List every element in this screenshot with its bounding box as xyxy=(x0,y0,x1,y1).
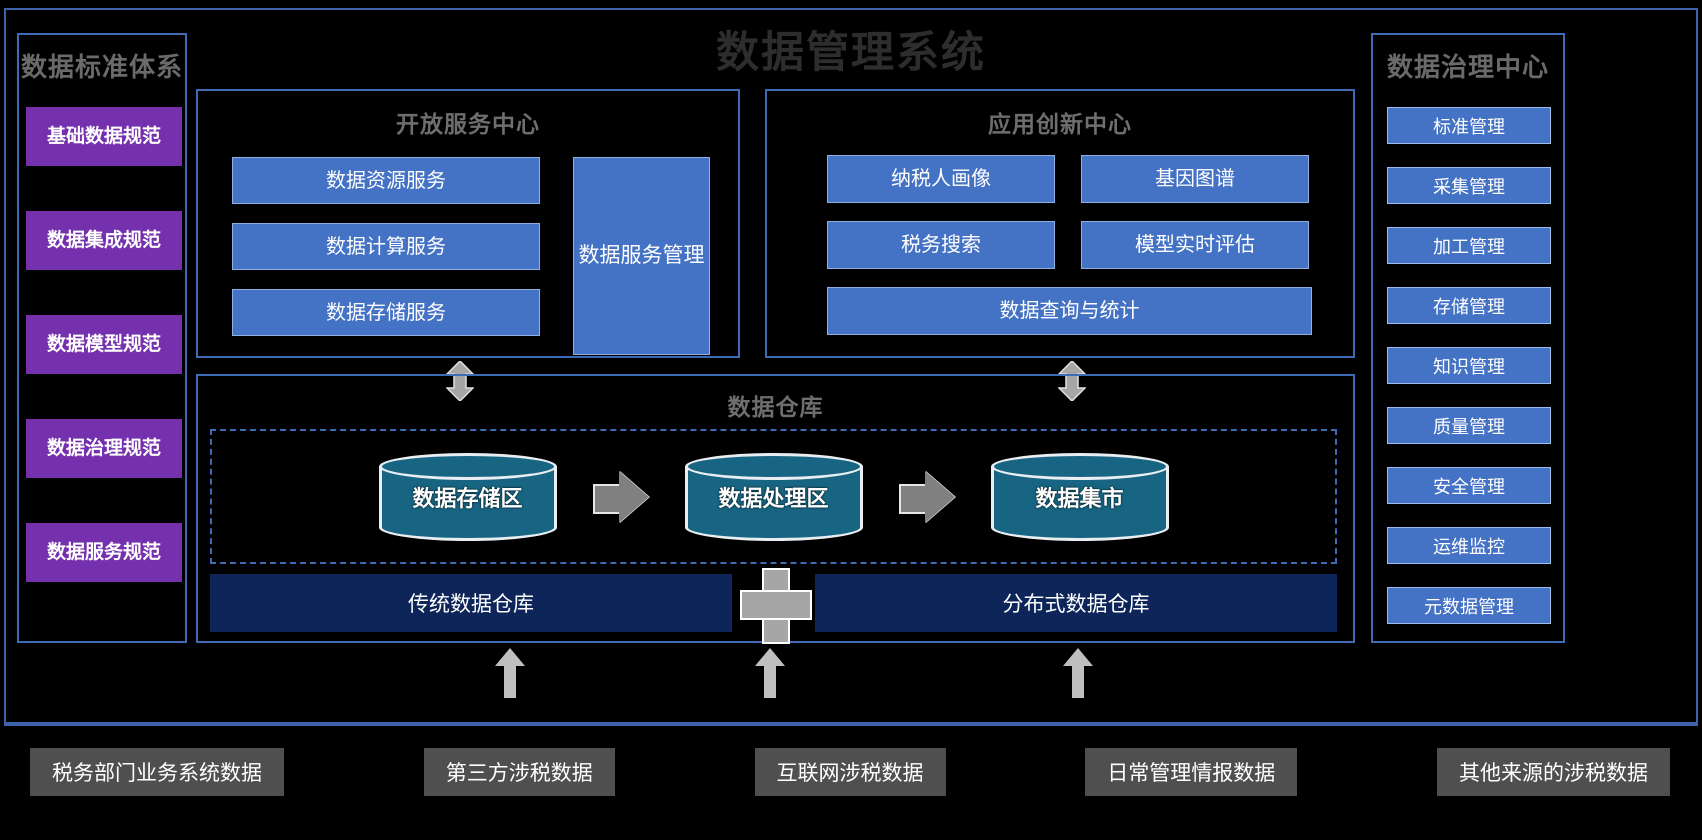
app-tax-search[interactable]: 税务搜索 xyxy=(827,221,1055,269)
cylinder-data-processing-zone[interactable]: 数据处理区 xyxy=(685,453,863,541)
plus-icon xyxy=(732,574,815,632)
cylinder-label: 数据集市 xyxy=(991,453,1169,541)
governance-item-security[interactable]: 安全管理 xyxy=(1387,467,1551,504)
source-internet-tax-data[interactable]: 互联网涉税数据 xyxy=(755,748,946,796)
data-standard-system-panel: 数据标准体系 基础数据规范 数据集成规范 数据模型规范 数据治理规范 数据服务规… xyxy=(17,33,187,643)
cylinder-data-mart[interactable]: 数据集市 xyxy=(991,453,1169,541)
standard-list: 基础数据规范 数据集成规范 数据模型规范 数据治理规范 数据服务规范 xyxy=(26,107,182,627)
source-daily-management-intel[interactable]: 日常管理情报数据 xyxy=(1085,748,1297,796)
data-governance-center-panel: 数据治理中心 标准管理 采集管理 加工管理 存储管理 知识管理 质量管理 安全管… xyxy=(1371,33,1565,643)
app-taxpayer-profile[interactable]: 纳税人画像 xyxy=(827,155,1055,203)
app-gene-map[interactable]: 基因图谱 xyxy=(1081,155,1309,203)
cylinder-label: 数据处理区 xyxy=(685,453,863,541)
standard-item-data-governance[interactable]: 数据治理规范 xyxy=(26,419,182,478)
standard-item-data-model[interactable]: 数据模型规范 xyxy=(26,315,182,374)
open-service-center-title: 开放服务中心 xyxy=(198,105,738,139)
data-warehouse-title: 数据仓库 xyxy=(198,388,1353,422)
governance-item-metadata[interactable]: 元数据管理 xyxy=(1387,587,1551,624)
governance-item-processing[interactable]: 加工管理 xyxy=(1387,227,1551,264)
app-innovation-grid: 纳税人画像 基因图谱 税务搜索 模型实时评估 数据查询与统计 xyxy=(827,155,1312,335)
source-third-party-tax-data[interactable]: 第三方涉税数据 xyxy=(424,748,615,796)
source-other-tax-data[interactable]: 其他来源的涉税数据 xyxy=(1437,748,1670,796)
traditional-data-warehouse-box[interactable]: 传统数据仓库 xyxy=(210,574,732,632)
warehouse-stage-row: 数据存储区 数据处理区 数据集市 xyxy=(210,429,1337,564)
governance-item-standard[interactable]: 标准管理 xyxy=(1387,107,1551,144)
governance-item-knowledge[interactable]: 知识管理 xyxy=(1387,347,1551,384)
standard-item-basic-data[interactable]: 基础数据规范 xyxy=(26,107,182,166)
source-tax-bureau-business-system[interactable]: 税务部门业务系统数据 xyxy=(30,748,284,796)
app-row-2: 税务搜索 模型实时评估 xyxy=(827,221,1312,269)
cylinder-data-storage-zone[interactable]: 数据存储区 xyxy=(379,453,557,541)
arrow-right-icon-2 xyxy=(899,471,955,523)
left-panel-title: 数据标准体系 xyxy=(19,47,185,84)
governance-item-quality[interactable]: 质量管理 xyxy=(1387,407,1551,444)
open-service-list: 数据资源服务 数据计算服务 数据存储服务 xyxy=(232,157,540,355)
app-row-1: 纳税人画像 基因图谱 xyxy=(827,155,1312,203)
cylinder-label: 数据存储区 xyxy=(379,453,557,541)
data-source-row: 税务部门业务系统数据 第三方涉税数据 互联网涉税数据 日常管理情报数据 其他来源… xyxy=(30,698,1670,818)
standard-item-data-service[interactable]: 数据服务规范 xyxy=(26,523,182,582)
standard-item-data-integration[interactable]: 数据集成规范 xyxy=(26,211,182,270)
up-arrow-icon-2 xyxy=(754,648,786,698)
app-innovation-center-title: 应用创新中心 xyxy=(767,105,1353,139)
distributed-data-warehouse-box[interactable]: 分布式数据仓库 xyxy=(815,574,1337,632)
data-warehouse-panel: 数据仓库 数据存储区 数据处理区 数据集市 xyxy=(196,374,1355,643)
service-data-compute[interactable]: 数据计算服务 xyxy=(232,223,540,270)
warehouse-engine-row: 传统数据仓库 分布式数据仓库 xyxy=(210,574,1337,632)
app-innovation-center-panel: 应用创新中心 纳税人画像 基因图谱 税务搜索 模型实时评估 数据查询与统计 xyxy=(765,89,1355,358)
governance-item-storage[interactable]: 存储管理 xyxy=(1387,287,1551,324)
open-service-center-panel: 开放服务中心 数据资源服务 数据计算服务 数据存储服务 数据服务管理 xyxy=(196,89,740,358)
service-data-resource[interactable]: 数据资源服务 xyxy=(232,157,540,204)
governance-list: 标准管理 采集管理 加工管理 存储管理 知识管理 质量管理 安全管理 运维监控 … xyxy=(1387,107,1551,647)
diagram-canvas: 数据管理系统 数据标准体系 基础数据规范 数据集成规范 数据模型规范 数据治理规… xyxy=(0,0,1702,840)
service-data-storage[interactable]: 数据存储服务 xyxy=(232,289,540,336)
app-model-realtime-eval[interactable]: 模型实时评估 xyxy=(1081,221,1309,269)
governance-item-ops-monitoring[interactable]: 运维监控 xyxy=(1387,527,1551,564)
up-arrow-icon-3 xyxy=(1062,648,1094,698)
app-data-query-statistics[interactable]: 数据查询与统计 xyxy=(827,287,1312,335)
arrow-right-icon-1 xyxy=(593,471,649,523)
service-management-box[interactable]: 数据服务管理 xyxy=(573,157,710,355)
governance-item-collection[interactable]: 采集管理 xyxy=(1387,167,1551,204)
up-arrow-icon-1 xyxy=(494,648,526,698)
right-panel-title: 数据治理中心 xyxy=(1373,47,1563,84)
